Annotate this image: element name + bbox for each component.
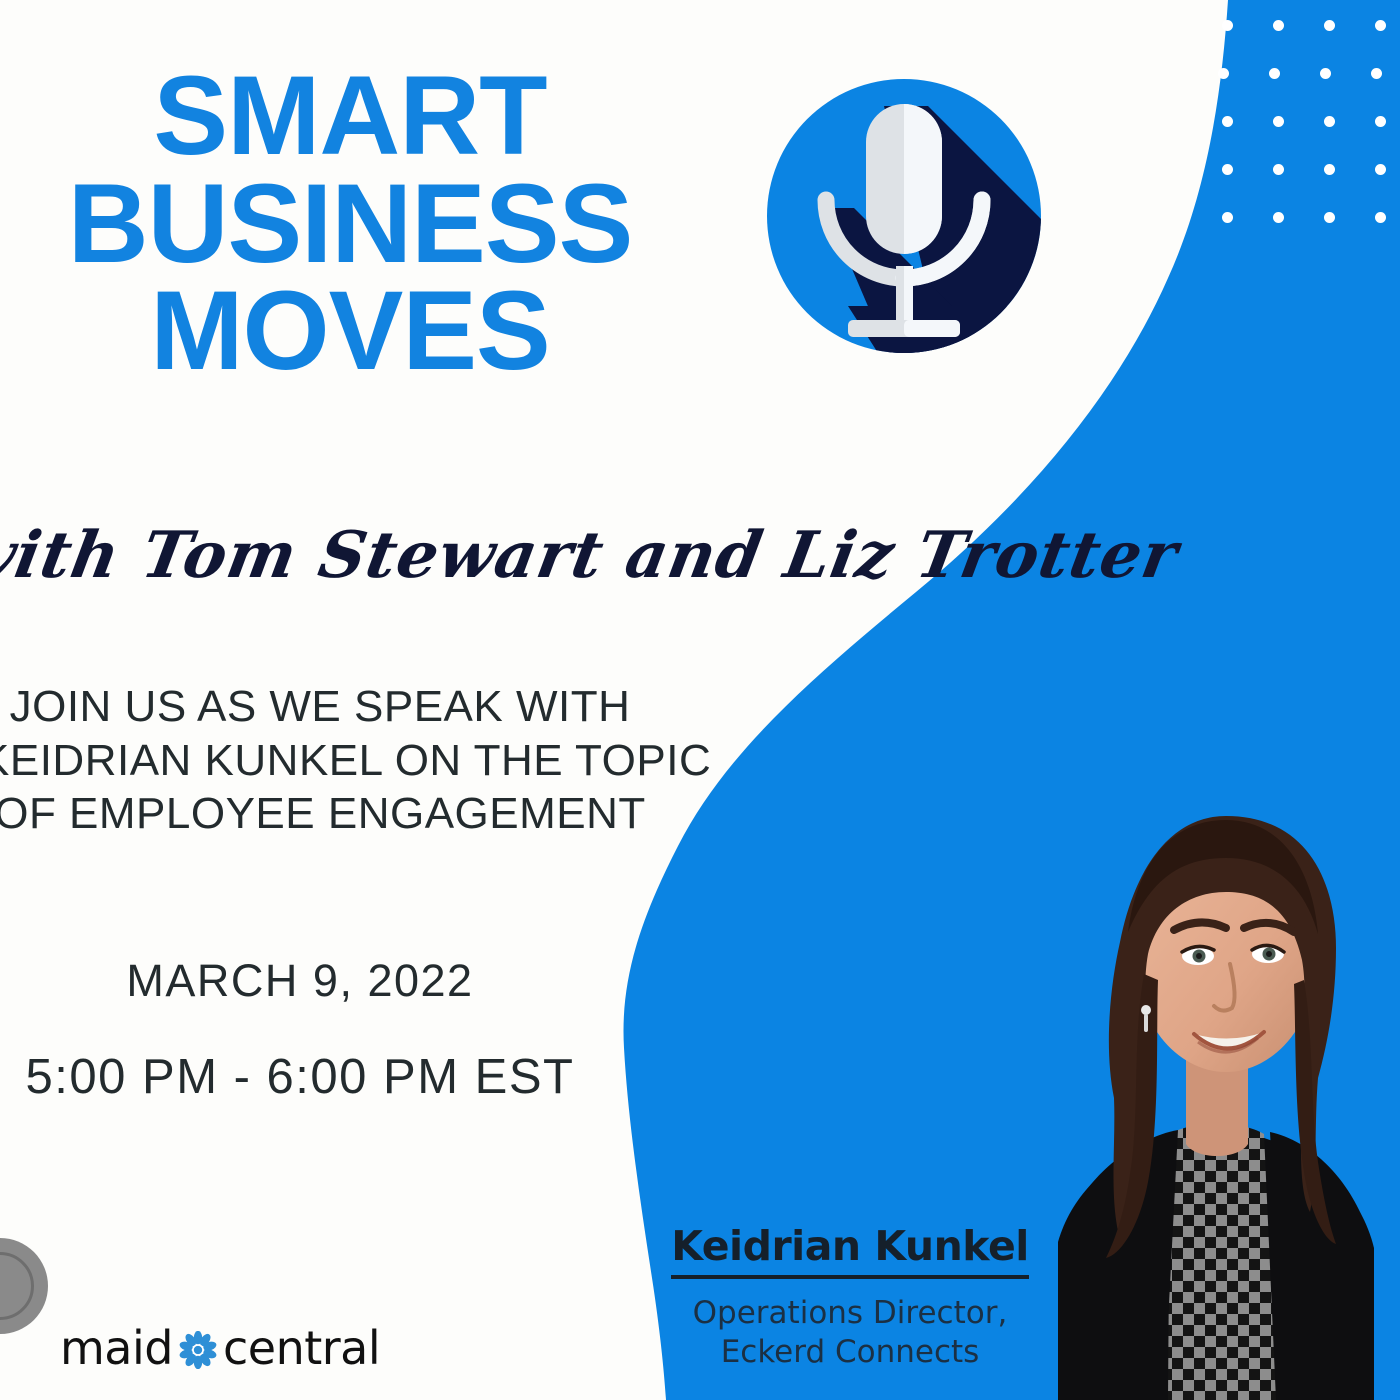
pattern-dot: [1273, 116, 1284, 127]
hosts-script-text: with Tom Stewart and Liz Trotter: [0, 518, 767, 593]
schedule-block: MARCH 9, 2022 5:00 PM - 6:00 PM EST: [0, 955, 600, 1105]
pattern-dot: [1324, 212, 1335, 223]
pattern-dot: [1218, 68, 1229, 79]
maidcentral-logo-left: maid: [60, 1325, 173, 1371]
podcast-promo-poster: SMART BUSINESS MOVES with: [0, 0, 1400, 1400]
pattern-dot: [1375, 20, 1386, 31]
maidcentral-logo[interactable]: maid central: [60, 1325, 380, 1371]
speaker-name: Keidrian Kunkel: [671, 1222, 1029, 1279]
pattern-dot: [1375, 116, 1386, 127]
event-date: MARCH 9, 2022: [0, 955, 600, 1007]
speaker-role-line-1: Operations Director,: [640, 1295, 1060, 1332]
title-line-3: MOVES: [0, 277, 700, 385]
description-line-1: JOIN US AS WE SPEAK WITH: [0, 680, 660, 734]
pattern-dot: [1222, 20, 1233, 31]
pattern-dot: [1222, 212, 1233, 223]
pattern-dot: [1273, 20, 1284, 31]
title-line-2: BUSINESS: [0, 170, 700, 278]
pattern-dot: [1269, 68, 1280, 79]
maidcentral-logo-right: central: [223, 1325, 380, 1371]
pattern-dot: [1375, 164, 1386, 175]
flower-burst-icon: [179, 1331, 217, 1369]
pattern-dot: [1324, 116, 1335, 127]
pattern-dot: [1273, 164, 1284, 175]
pattern-dot: [1320, 68, 1331, 79]
event-time: 5:00 PM - 6:00 PM EST: [0, 1049, 600, 1105]
pattern-dot: [1324, 164, 1335, 175]
pattern-dot: [1371, 68, 1382, 79]
speaker-caption: Keidrian Kunkel Operations Director, Eck…: [640, 1222, 1060, 1370]
episode-description: JOIN US AS WE SPEAK WITH KEIDRIAN KUNKEL…: [0, 680, 660, 841]
pattern-dot: [1375, 212, 1386, 223]
title-line-1: SMART: [0, 62, 700, 170]
speaker-portrait-photo: [1018, 742, 1400, 1400]
pattern-dot: [1222, 116, 1233, 127]
pattern-dot: [1222, 164, 1233, 175]
description-line-2: KEIDRIAN KUNKEL ON THE TOPIC: [0, 734, 660, 788]
microphone-icon: [758, 70, 1050, 362]
page-title: SMART BUSINESS MOVES: [0, 62, 700, 385]
speaker-role-line-2: Eckerd Connects: [640, 1334, 1060, 1371]
pattern-dot: [1324, 20, 1335, 31]
pattern-dot: [1273, 212, 1284, 223]
description-line-3: OF EMPLOYEE ENGAGEMENT: [0, 787, 660, 841]
